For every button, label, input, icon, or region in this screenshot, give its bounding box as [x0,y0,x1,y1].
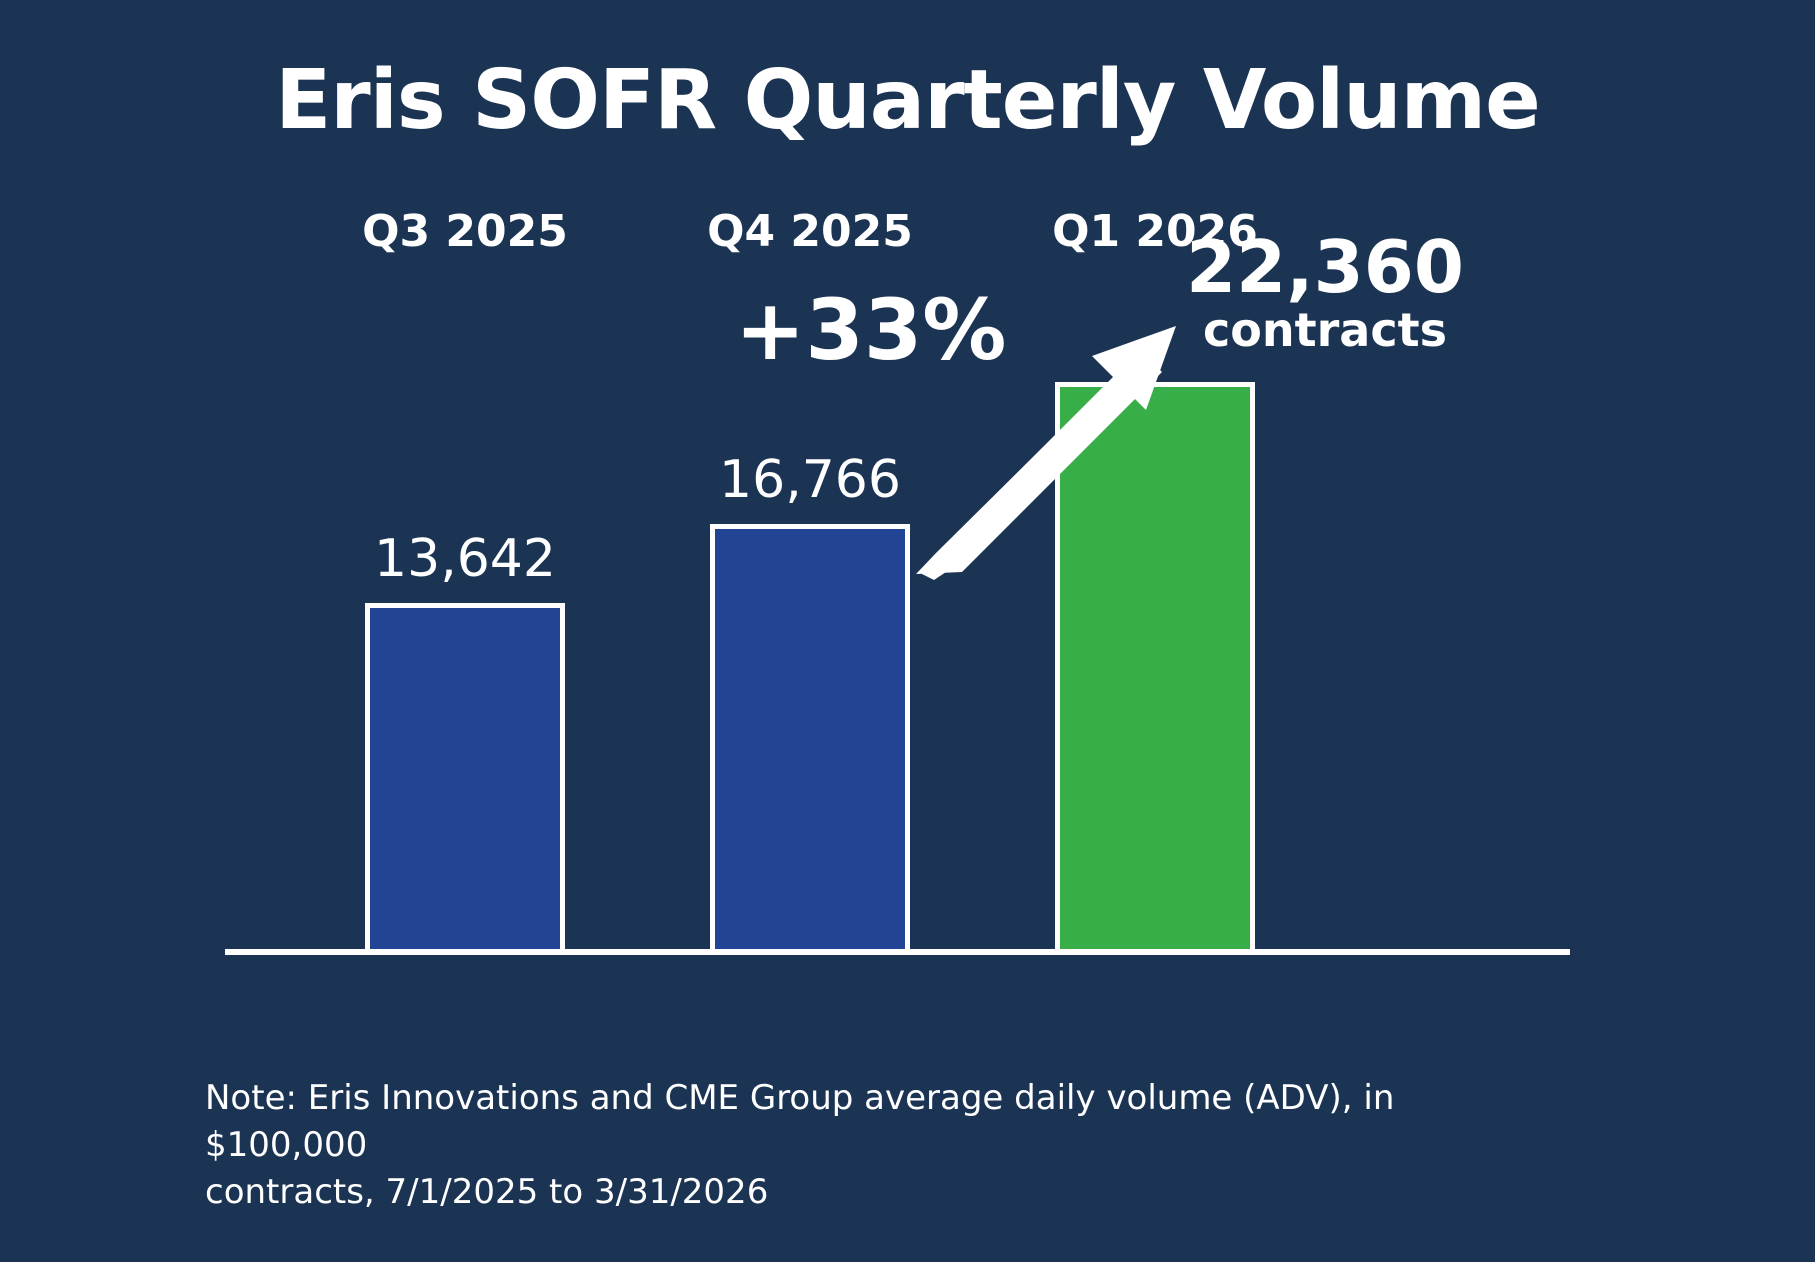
callout-annotation: 22,360 contracts [1165,230,1485,354]
callout-unit: contracts [1165,306,1485,354]
bar-q3-2025[interactable] [365,603,565,949]
bar-value-label-0: 13,642 [374,533,556,585]
chart-canvas: Eris SOFR Quarterly Volume 13,642 16,766… [0,0,1815,1262]
x-tick-label-1: Q4 2025 [707,210,913,254]
bar-q4-2025[interactable] [710,524,910,949]
page-title: Eris SOFR Quarterly Volume [0,60,1815,142]
callout-value: 22,360 [1165,230,1485,306]
growth-percent-annotation: +33% [735,288,1006,372]
footnote-line-2: contracts, 7/1/2025 to 3/31/2026 [205,1169,1535,1216]
footnote: Note: Eris Innovations and CME Group ave… [205,1075,1535,1216]
bar-q1-2026[interactable] [1055,382,1255,949]
footnote-line-1: Note: Eris Innovations and CME Group ave… [205,1075,1535,1169]
bar-value-label-1: 16,766 [719,454,901,506]
x-tick-label-0: Q3 2025 [362,210,568,254]
x-axis-line [225,949,1570,955]
